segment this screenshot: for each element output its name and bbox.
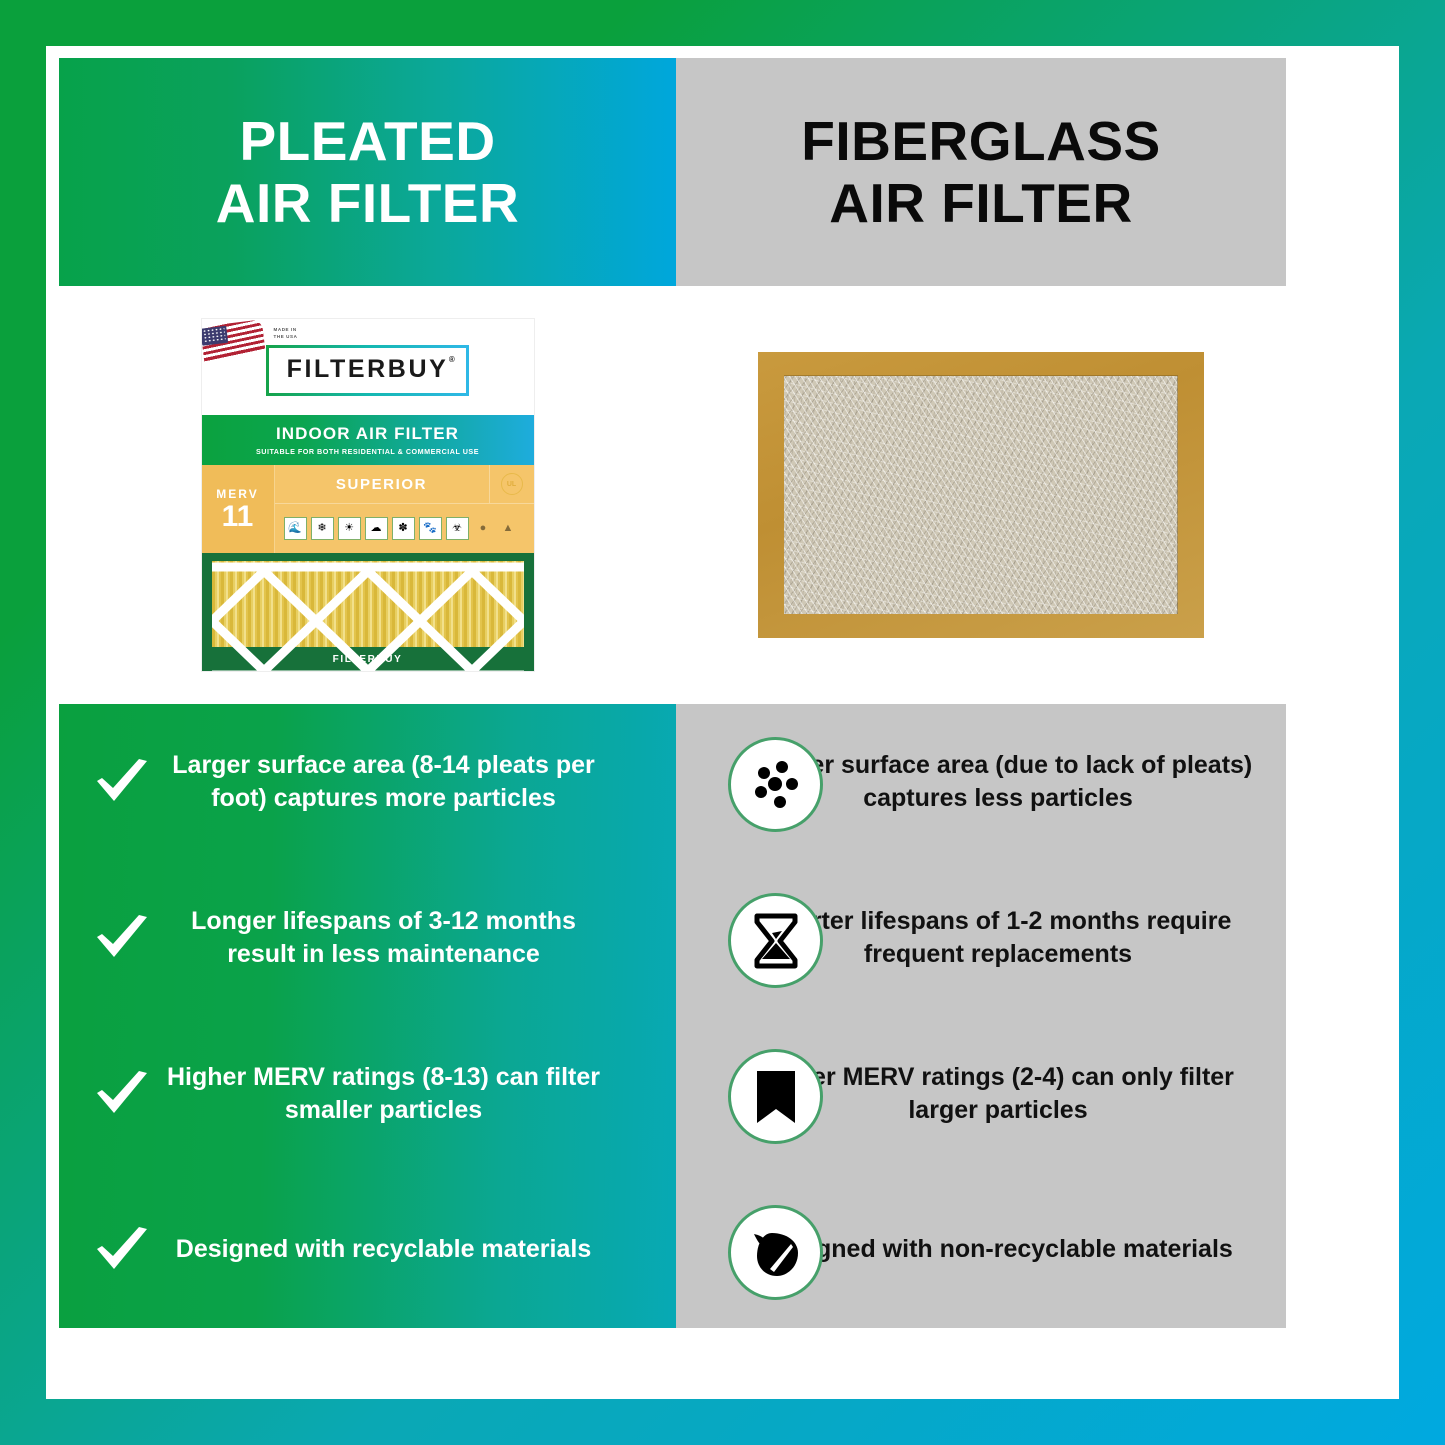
made-in-usa-label: MADE IN THE USA — [274, 327, 298, 341]
brand-trademark: ® — [449, 356, 458, 364]
box-band-main: INDOOR AIR FILTER — [276, 424, 459, 444]
checkmark-icon — [89, 913, 155, 963]
merv-block: MERV 11 — [202, 465, 275, 553]
frame-seam-top — [784, 375, 1178, 376]
infographic-page: PLEATED AIR FILTER FIBERGLASS AIR FILTER… — [0, 0, 1445, 1445]
box-top-section: MADE IN THE USA FILTERBUY® — [202, 319, 534, 415]
product-image-row: MADE IN THE USA FILTERBUY® INDOOR AIR FI… — [59, 286, 1286, 704]
row-left-cell: Larger surface area (8-14 pleats per foo… — [59, 749, 676, 816]
header-fiberglass-title: FIBERGLASS AIR FILTER — [801, 110, 1160, 234]
comparison-rows: Larger surface area (8-14 pleats per foo… — [59, 704, 1286, 1328]
comparison-row: Longer lifespans of 3-12 months result i… — [59, 860, 1286, 1016]
header-row: PLEATED AIR FILTER FIBERGLASS AIR FILTER — [59, 58, 1286, 286]
bookmark-icon — [728, 1049, 823, 1144]
checkmark-icon — [89, 1225, 155, 1275]
filterbuy-box: MADE IN THE USA FILTERBUY® INDOOR AIR FI… — [202, 319, 534, 671]
ul-mark-wrap: UL — [489, 465, 534, 503]
bacteria-icon: ☀ — [338, 517, 361, 540]
allergen-icon: ☣ — [446, 517, 469, 540]
us-flag-icon — [202, 319, 266, 362]
header-pleated-title: PLEATED AIR FILTER — [216, 110, 519, 234]
box-pleat-window: FILTERBUY — [202, 553, 534, 671]
merv-value: 11 — [222, 502, 254, 532]
smoke-particle-icon: ✽ — [392, 517, 415, 540]
hourglass-icon — [728, 893, 823, 988]
comparison-row: Higher MERV ratings (8-13) can filter sm… — [59, 1016, 1286, 1172]
pet-dander-icon: 🐾 — [419, 517, 442, 540]
frame-seam-right — [1177, 376, 1178, 614]
ghost-icon-1: ● — [473, 518, 494, 539]
comparison-section: Larger surface area (8-14 pleats per foo… — [59, 704, 1286, 1328]
header-pleated: PLEATED AIR FILTER — [59, 58, 676, 286]
row-left-text: Longer lifespans of 3-12 months result i… — [155, 905, 664, 972]
ghost-icon-2: ▲ — [498, 518, 519, 539]
ul-listed-icon: UL — [501, 473, 523, 495]
box-footer-brand: FILTERBUY — [202, 647, 534, 671]
comparison-row: Larger surface area (8-14 pleats per foo… — [59, 704, 1286, 860]
row-left-cell: Longer lifespans of 3-12 months result i… — [59, 905, 676, 972]
fiberglass-filter-photo — [758, 352, 1204, 638]
brand-name: FILTERBUY® — [287, 357, 449, 382]
merv-right-block: SUPERIOR UL 🌊 ❄ ☀ ☁ ✽ 🐾 ☣ — [275, 465, 534, 553]
tier-label: SUPERIOR — [275, 476, 489, 493]
pleated-product-cell: MADE IN THE USA FILTERBUY® INDOOR AIR FI… — [59, 286, 676, 704]
pollen-icon: ❄ — [311, 517, 334, 540]
box-merv-section: MERV 11 SUPERIOR UL 🌊 ❄ — [202, 465, 534, 553]
box-band-sub: SUITABLE FOR BOTH RESIDENTIAL & COMMERCI… — [256, 447, 479, 456]
particles-icon — [728, 737, 823, 832]
row-left-text: Larger surface area (8-14 pleats per foo… — [155, 749, 664, 816]
leaf-icon — [728, 1205, 823, 1300]
fiberglass-media — [784, 376, 1178, 614]
row-left-text: Higher MERV ratings (8-13) can filter sm… — [155, 1061, 664, 1128]
box-indoor-band: INDOOR AIR FILTER SUITABLE FOR BOTH RESI… — [202, 415, 534, 465]
brand-logo-box: FILTERBUY® — [266, 345, 470, 396]
feature-icon-row: 🌊 ❄ ☀ ☁ ✽ 🐾 ☣ ● ▲ — [275, 504, 534, 553]
mold-spore-icon: ☁ — [365, 517, 388, 540]
flag-stars — [202, 327, 225, 343]
brand-name-text: FILTERBUY — [287, 355, 449, 383]
checkmark-icon — [89, 757, 155, 807]
row-left-cell: Higher MERV ratings (8-13) can filter sm… — [59, 1061, 676, 1128]
row-left-cell: Designed with recyclable materials — [59, 1225, 676, 1275]
tier-row: SUPERIOR UL — [275, 465, 534, 504]
checkmark-icon — [89, 1069, 155, 1119]
header-fiberglass: FIBERGLASS AIR FILTER — [676, 58, 1286, 286]
fiberglass-product-cell — [676, 286, 1286, 704]
comparison-row: Designed with recyclable materials Desig… — [59, 1172, 1286, 1328]
row-left-text: Designed with recyclable materials — [155, 1233, 664, 1266]
dust-icon: 🌊 — [284, 517, 307, 540]
merv-label: MERV — [216, 487, 258, 501]
